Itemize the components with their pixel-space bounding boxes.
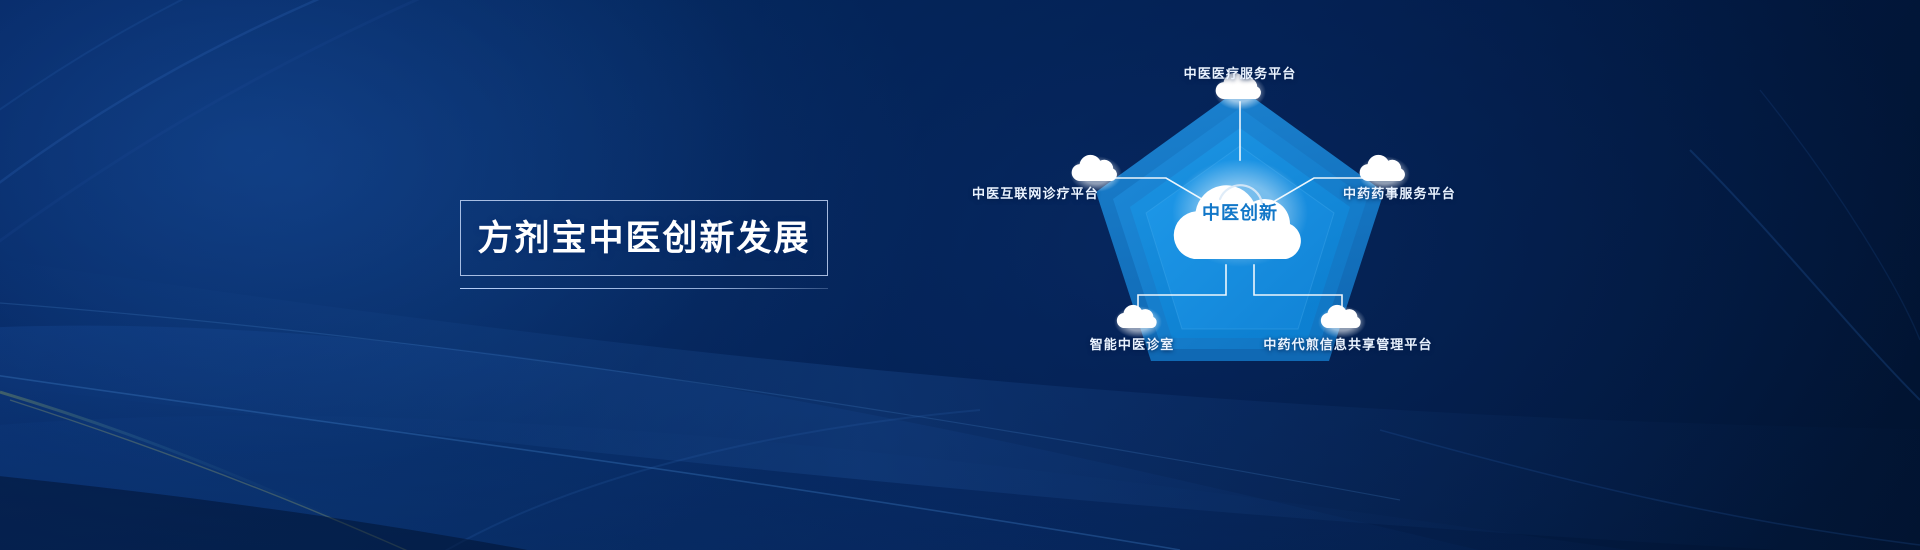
node-label-bottom-left[interactable]: 智能中医诊室: [1090, 338, 1175, 351]
pentagon-diagram: 中医医疗服务平台 中医互联网诊疗平台 中药药事服务平台 智能中医诊室 中药代煎信…: [980, 50, 1500, 410]
node-label-bottom-right[interactable]: 中药代煎信息共享管理平台: [1263, 338, 1432, 351]
pentagon-diagram-svg: [980, 50, 1500, 410]
banner-title-block: 方剂宝中医创新发展: [460, 200, 828, 289]
page-title: 方剂宝中医创新发展: [477, 221, 810, 256]
node-label-right[interactable]: 中药药事服务平台: [1343, 187, 1456, 200]
node-label-left[interactable]: 中医互联网诊疗平台: [972, 187, 1099, 200]
title-underline: [460, 288, 828, 289]
center-node-label: 中医创新: [1202, 204, 1278, 222]
node-label-top[interactable]: 中医医疗服务平台: [1184, 67, 1297, 80]
banner-stage: 方剂宝中医创新发展: [0, 0, 1920, 550]
title-frame: 方剂宝中医创新发展: [460, 200, 828, 276]
background-waves: [0, 0, 1920, 550]
